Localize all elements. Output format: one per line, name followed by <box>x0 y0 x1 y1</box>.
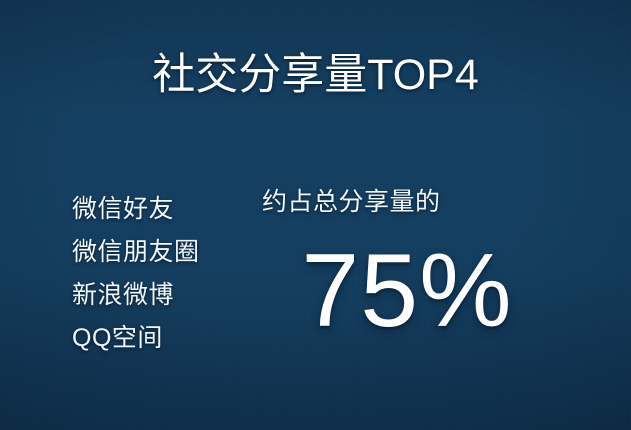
channel-list: 微信好友 微信朋友圈 新浪微博 QQ空间 <box>72 188 262 360</box>
slide-canvas: 社交分享量TOP4 微信好友 微信朋友圈 新浪微博 QQ空间 约占总分享量的 7… <box>0 0 631 430</box>
statistic-caption: 约占总分享量的 <box>262 186 562 218</box>
statistic-value: 75% <box>262 236 562 346</box>
page-title: 社交分享量TOP4 <box>0 47 631 103</box>
list-item: 微信朋友圈 <box>72 231 262 274</box>
list-item: QQ空间 <box>72 317 262 360</box>
statistic-block: 约占总分享量的 75% <box>262 186 562 346</box>
list-item: 微信好友 <box>72 188 262 231</box>
list-item: 新浪微博 <box>72 274 262 317</box>
slide-content: 社交分享量TOP4 微信好友 微信朋友圈 新浪微博 QQ空间 约占总分享量的 7… <box>0 0 631 430</box>
